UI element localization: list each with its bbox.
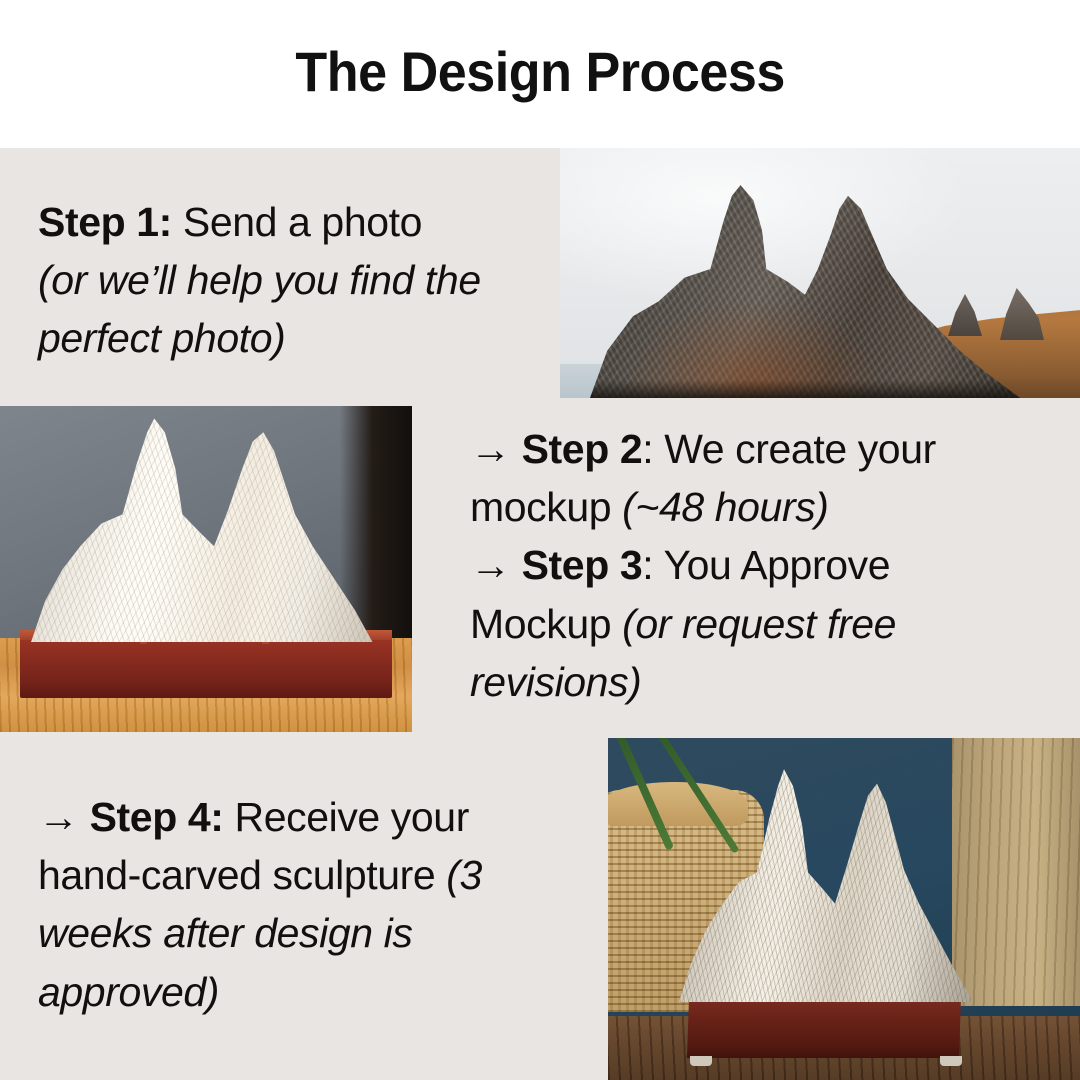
step-1-label: Step 1: (38, 199, 172, 245)
wood-plank (952, 738, 1080, 1006)
base-foot-left (690, 1056, 712, 1066)
white-mockup-photo (0, 406, 412, 732)
header-band: The Design Process (0, 0, 1080, 148)
step-4-text: → Step 4: Receive your hand-carved sculp… (38, 788, 568, 1021)
step-4-label: Step 4: (90, 794, 224, 840)
rock-pinnacles-photo (560, 148, 1080, 398)
rock-base-shadow (590, 380, 1020, 398)
step-1-text: Step 1: Send a photo (or we’ll help you … (38, 193, 538, 368)
red-wood-base (20, 636, 392, 698)
step-3-label: Step 3 (522, 542, 643, 588)
step-2-label: Step 2 (522, 426, 643, 472)
mockup-shading (24, 414, 376, 642)
infographic-canvas: The Design Process (0, 0, 1080, 1080)
plank-grain (952, 738, 1080, 1006)
step-1-body: Send a photo (172, 199, 422, 245)
finished-sculpture-photo (608, 738, 1080, 1080)
step-4-arrow: → (38, 794, 90, 840)
dark-red-base (687, 996, 961, 1058)
step-2-line: → Step 2: We create your mockup (~48 hou… (470, 420, 1030, 536)
white-mockup-sculpture (24, 414, 376, 642)
step-1-note: (or we’ll help you find the perfect phot… (38, 257, 481, 361)
step-2-note: (~48 hours) (622, 484, 828, 530)
step-3-arrow: → (470, 542, 522, 588)
step-2-arrow: → (470, 426, 522, 472)
base-foot-right (940, 1056, 962, 1066)
page-title: The Design Process (295, 44, 784, 100)
step-3-line: → Step 3: You Approve Mockup (or request… (470, 536, 1030, 711)
step-2-3-text: → Step 2: We create your mockup (~48 hou… (470, 420, 1030, 711)
basket-lid (608, 782, 748, 826)
